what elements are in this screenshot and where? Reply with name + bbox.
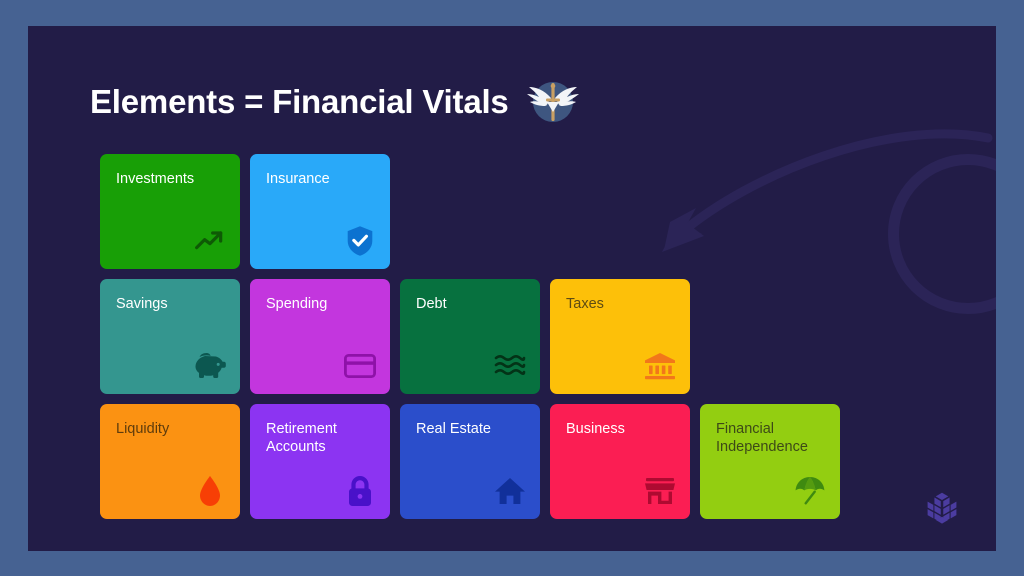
- water-drop-icon: [193, 474, 227, 508]
- grid-row: Liquidity Retirement Accounts: [100, 404, 840, 519]
- credit-card-icon: [343, 349, 377, 383]
- tile-label: Financial Independence: [716, 421, 828, 456]
- page-title: Elements = Financial Vitals: [90, 83, 509, 121]
- tile-label: Business: [566, 421, 678, 439]
- tile-label: Investments: [116, 171, 228, 189]
- tile-label: Liquidity: [116, 421, 228, 439]
- decorative-ring: [888, 154, 996, 314]
- tile-financial-independence[interactable]: Financial Independence: [700, 404, 840, 519]
- bank-building-icon: [643, 349, 677, 383]
- tile-label: Real Estate: [416, 421, 528, 439]
- tile-liquidity[interactable]: Liquidity: [100, 404, 240, 519]
- tile-label: Savings: [116, 296, 228, 314]
- piggy-bank-icon: [193, 349, 227, 383]
- tile-label: Taxes: [566, 296, 678, 314]
- padlock-icon: [343, 474, 377, 508]
- waves-icon: [493, 349, 527, 383]
- grid-row: Savings Spending: [100, 279, 840, 394]
- tile-spending[interactable]: Spending: [250, 279, 390, 394]
- tile-insurance[interactable]: Insurance: [250, 154, 390, 269]
- winged-sword-logo: [525, 74, 581, 130]
- tile-taxes[interactable]: Taxes: [550, 279, 690, 394]
- tile-business[interactable]: Business: [550, 404, 690, 519]
- tile-retirement-accounts[interactable]: Retirement Accounts: [250, 404, 390, 519]
- tile-savings[interactable]: Savings: [100, 279, 240, 394]
- grid-row: Investments Insurance: [100, 154, 840, 269]
- header: Elements = Financial Vitals: [90, 74, 581, 130]
- house-icon: [493, 474, 527, 508]
- tile-debt[interactable]: Debt: [400, 279, 540, 394]
- tile-label: Debt: [416, 296, 528, 314]
- tile-label: Spending: [266, 296, 378, 314]
- tile-real-estate[interactable]: Real Estate: [400, 404, 540, 519]
- elements-grid: Investments Insurance: [100, 154, 840, 519]
- slide-panel: Elements = Financial Vitals: [28, 26, 996, 551]
- storefront-icon: [643, 474, 677, 508]
- tile-investments[interactable]: Investments: [100, 154, 240, 269]
- slide-canvas: Elements = Financial Vitals: [0, 0, 1024, 576]
- cube-logo: [924, 491, 960, 527]
- shield-check-icon: [343, 224, 377, 258]
- tile-label: Retirement Accounts: [266, 421, 378, 456]
- trending-up-icon: [193, 224, 227, 258]
- beach-umbrella-icon: [793, 474, 827, 508]
- tile-label: Insurance: [266, 171, 378, 189]
